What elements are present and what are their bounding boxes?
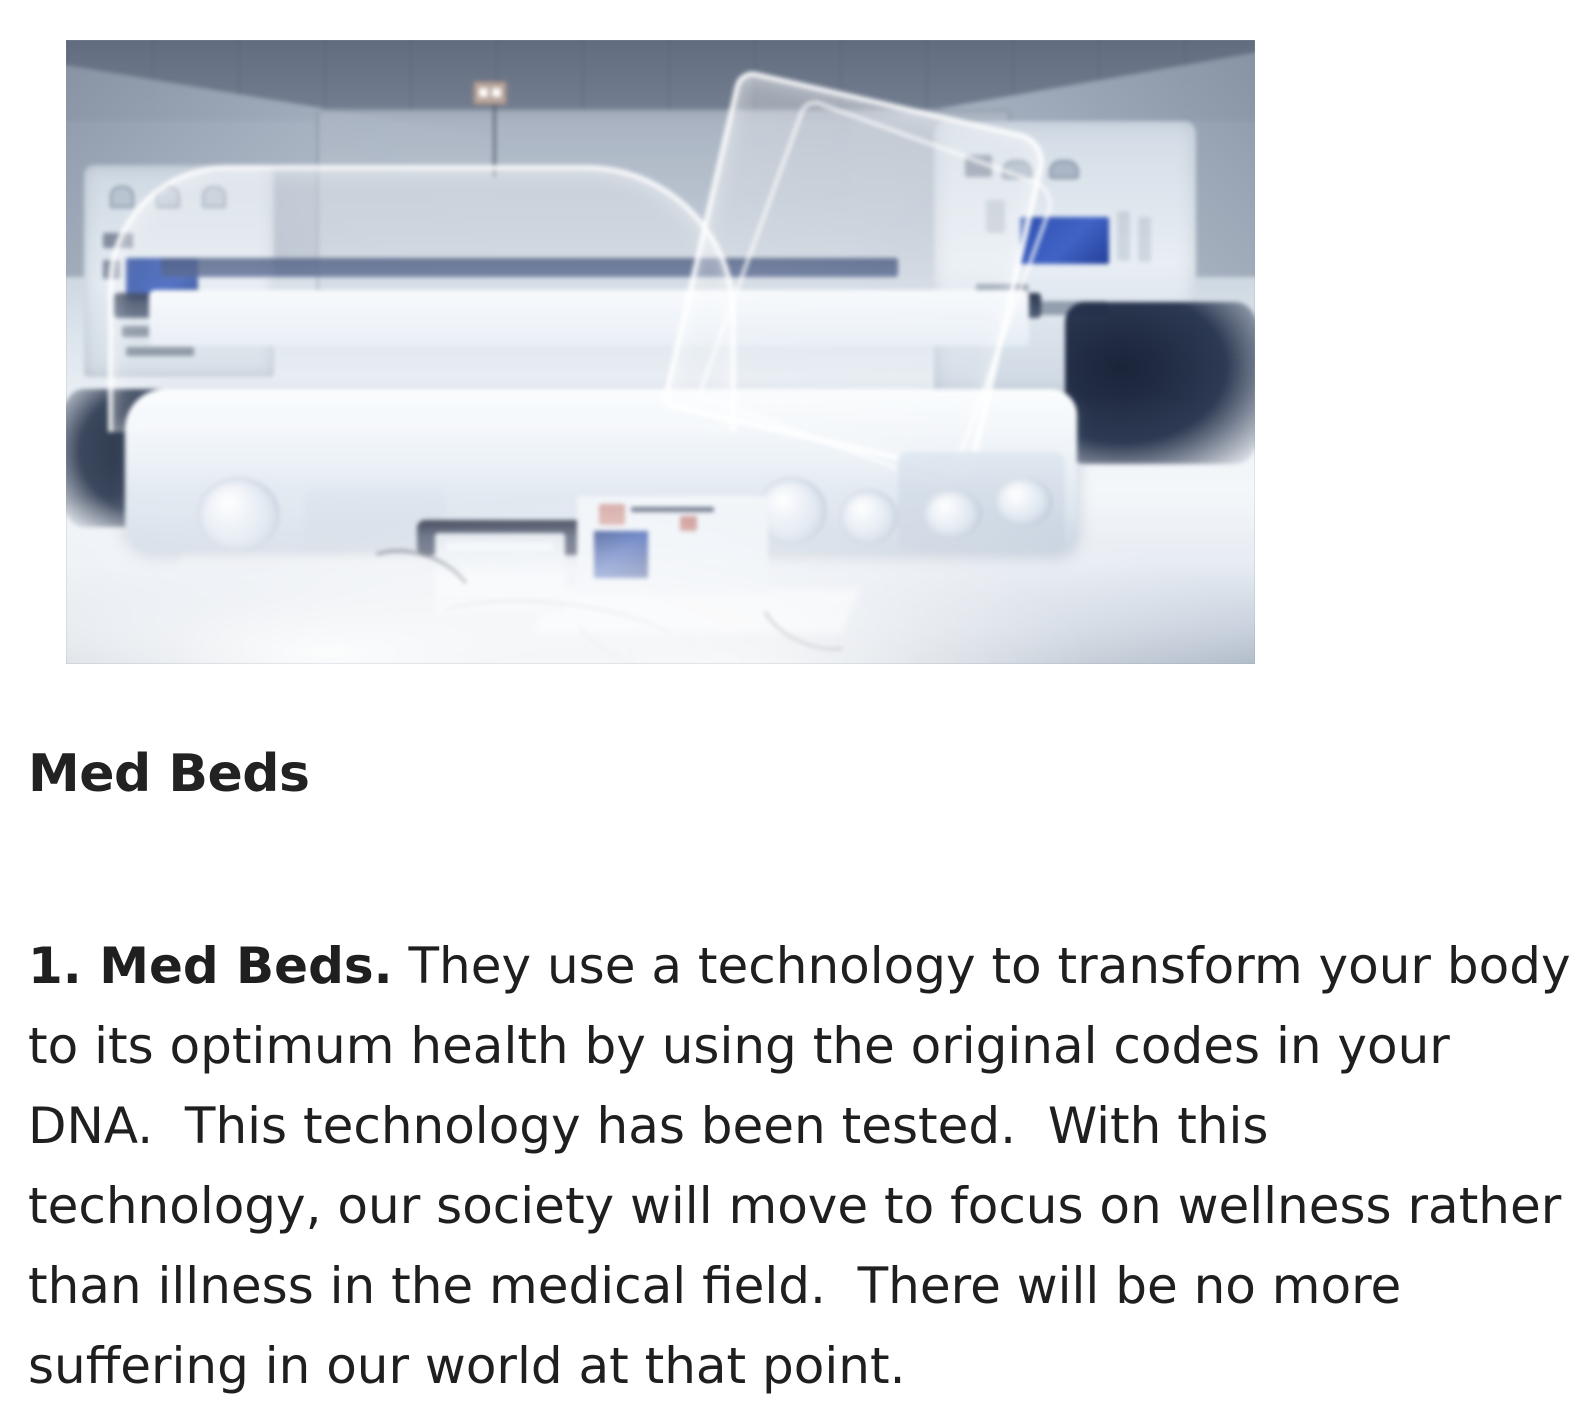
paragraph-lead: 1. Med Beds. xyxy=(28,937,393,995)
light-cell-left xyxy=(479,88,488,97)
panel-slot xyxy=(631,507,714,513)
pod-glass-dome xyxy=(108,165,736,432)
rack-marker xyxy=(1138,217,1151,262)
med-bay-scene xyxy=(66,40,1255,664)
shadow-right xyxy=(1065,302,1255,464)
med-bed-image xyxy=(66,40,1255,664)
pod-wheel-housing xyxy=(197,477,280,552)
control-cart-strip xyxy=(446,542,553,551)
panel-button-pink xyxy=(599,504,625,525)
rack-knob xyxy=(110,186,134,208)
light-cell-right xyxy=(492,88,501,97)
panel-button-red xyxy=(680,516,698,531)
rack-marker xyxy=(1117,211,1130,262)
pod-wheel-housing xyxy=(922,489,981,539)
body-paragraph: 1. Med Beds. They use a technology to tr… xyxy=(28,926,1573,1406)
page-title: Med Beds xyxy=(28,743,309,805)
document-page: Med Beds 1. Med Beds. They use a technol… xyxy=(0,0,1590,1364)
paragraph-text: They use a technology to transform your … xyxy=(28,937,1586,1395)
rack-dial xyxy=(1049,160,1079,179)
ceiling-light-icon xyxy=(473,81,507,105)
pod-wheel-housing xyxy=(993,477,1052,527)
